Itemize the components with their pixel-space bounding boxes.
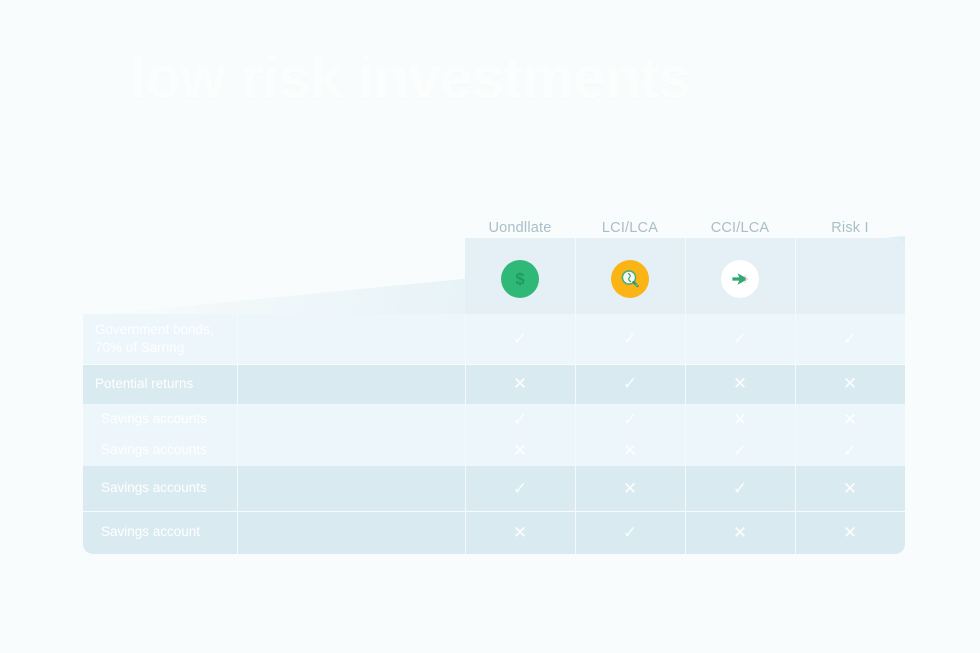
cross-icon: ✕ [843, 374, 857, 394]
column-header-label: Risk I [795, 220, 905, 236]
row-label: Government bonds, 70% of Sarring [83, 314, 237, 364]
column-header-label: Uondllate [465, 220, 575, 236]
check-icon: ✓ [623, 374, 637, 394]
cell-r5c4: ✕ [795, 466, 905, 511]
cell-r6c3: ✕ [685, 511, 795, 554]
cross-icon: ✕ [733, 410, 747, 430]
table-row[interactable]: Savings accounts ✕ ✕ ✓ ✓ [83, 435, 905, 466]
cell-r2c4: ✕ [795, 364, 905, 404]
comparison-table: Uondllate $ LCI/LCA CCI/LCA [83, 238, 905, 554]
table-body: Government bonds, 70% of Sarring ✓ ✓ ✓ ✓… [83, 314, 905, 554]
table-row[interactable]: Government bonds, 70% of Sarring ✓ ✓ ✓ ✓ [83, 314, 905, 364]
table-column-header-4[interactable]: Risk I [795, 238, 905, 314]
column-header-label: LCI/LCA [575, 220, 685, 236]
cell-r2c2: ✓ [575, 364, 685, 404]
column-header-label: CCI/LCA [685, 220, 795, 236]
check-icon: ✓ [623, 329, 637, 349]
check-icon: ✓ [513, 479, 527, 499]
table-row[interactable]: Savings accounts ✓ ✕ ✓ ✕ [83, 466, 905, 511]
svg-text:$: $ [515, 271, 524, 289]
table-header-row: Uondllate $ LCI/LCA CCI/LCA [83, 238, 905, 314]
cross-icon: ✕ [623, 441, 637, 461]
row-spacer-cell [237, 364, 465, 404]
row-label: Savings accounts [83, 404, 237, 435]
cell-r3c1: ✓ [465, 404, 575, 435]
row-spacer-cell [237, 435, 465, 466]
cross-icon: ✕ [843, 523, 857, 543]
row-label: Savings account [83, 511, 237, 554]
table-row[interactable]: Savings accounts ✓ ✓ ✕ ✕ [83, 404, 905, 435]
check-icon: ✓ [733, 441, 747, 461]
cell-r4c3: ✓ [685, 435, 795, 466]
check-icon: ✓ [843, 329, 857, 349]
cell-r2c1: ✕ [465, 364, 575, 404]
row-spacer-cell [237, 466, 465, 511]
table-column-header-1[interactable]: Uondllate $ [465, 238, 575, 314]
cross-icon: ✕ [513, 523, 527, 543]
row-spacer-cell [237, 511, 465, 554]
cell-r3c2: ✓ [575, 404, 685, 435]
cell-r1c1: ✓ [465, 314, 575, 364]
no-icon-placeholder [831, 260, 869, 298]
cross-icon: ✕ [733, 374, 747, 394]
cell-r3c3: ✕ [685, 404, 795, 435]
cell-r6c2: ✓ [575, 511, 685, 554]
row-label: Potential returns [83, 364, 237, 404]
table-row-group: Savings accounts ✓ ✓ ✕ ✕ Savings account… [83, 404, 905, 466]
check-icon: ✓ [843, 441, 857, 461]
table-row[interactable]: Savings account ✕ ✓ ✕ ✕ [83, 511, 905, 554]
arrow-cursor-icon [721, 260, 759, 298]
dollar-circle-icon: $ [501, 260, 539, 298]
cross-icon: ✕ [513, 441, 527, 461]
cell-r5c3: ✓ [685, 466, 795, 511]
table-row[interactable]: Potential returns ✕ ✓ ✕ ✕ [83, 364, 905, 404]
check-icon: ✓ [513, 329, 527, 349]
table-column-header-2[interactable]: LCI/LCA [575, 238, 685, 314]
cross-icon: ✕ [513, 374, 527, 394]
header-empty-label-cell [83, 238, 465, 314]
cell-r2c3: ✕ [685, 364, 795, 404]
row-label: Savings accounts [83, 466, 237, 511]
magnifier-circle-icon [611, 260, 649, 298]
cell-r4c2: ✕ [575, 435, 685, 466]
cross-icon: ✕ [623, 479, 637, 499]
cell-r1c4: ✓ [795, 314, 905, 364]
row-label: Savings accounts [83, 435, 237, 466]
cross-icon: ✕ [843, 410, 857, 430]
row-spacer-cell [237, 314, 465, 364]
cell-r4c4: ✓ [795, 435, 905, 466]
cell-r5c1: ✓ [465, 466, 575, 511]
cell-r1c3: ✓ [685, 314, 795, 364]
cell-r6c4: ✕ [795, 511, 905, 554]
check-icon: ✓ [733, 329, 747, 349]
check-icon: ✓ [623, 523, 637, 543]
cell-r3c4: ✕ [795, 404, 905, 435]
row-spacer-cell [237, 404, 465, 435]
cell-r4c1: ✕ [465, 435, 575, 466]
cell-r1c2: ✓ [575, 314, 685, 364]
cross-icon: ✕ [733, 523, 747, 543]
cross-icon: ✕ [843, 479, 857, 499]
check-icon: ✓ [513, 410, 527, 430]
check-icon: ✓ [623, 410, 637, 430]
check-icon: ✓ [733, 479, 747, 499]
cell-r5c2: ✕ [575, 466, 685, 511]
cell-r6c1: ✕ [465, 511, 575, 554]
page-title: low risk investments [130, 46, 691, 113]
table-column-header-3[interactable]: CCI/LCA [685, 238, 795, 314]
